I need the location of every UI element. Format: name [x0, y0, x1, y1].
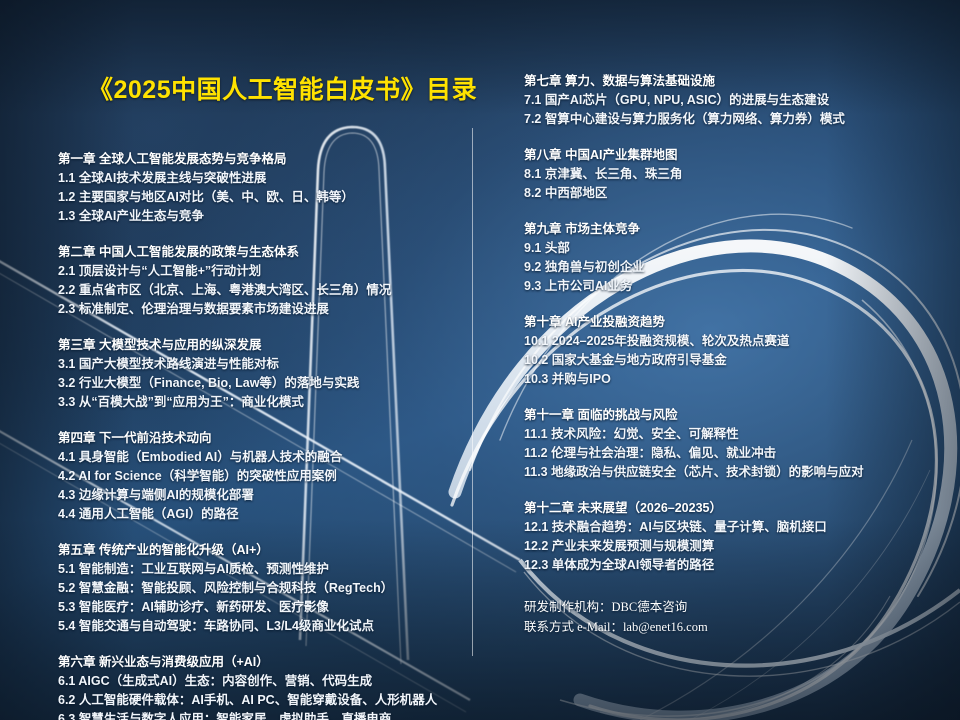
chapter-block: 第七章 算力、数据与算法基础设施 7.1 国产AI芯片（GPU, NPU, AS… — [524, 72, 944, 129]
section-item: 10.1 2024–2025年投融资规模、轮次及热点赛道 — [524, 332, 944, 351]
chapter-title: 第九章 市场主体竞争 — [524, 220, 944, 239]
section-item: 4.1 具身智能（Embodied AI）与机器人技术的融合 — [58, 448, 468, 467]
chapter-title: 第五章 传统产业的智能化升级（AI+） — [58, 541, 468, 560]
section-item: 11.2 伦理与社会治理：隐私、偏见、就业冲击 — [524, 444, 944, 463]
section-item: 11.1 技术风险：幻觉、安全、可解释性 — [524, 425, 944, 444]
section-item: 8.1 京津冀、长三角、珠三角 — [524, 165, 944, 184]
section-item: 5.4 智能交通与自动驾驶：车路协同、L3/L4级商业化试点 — [58, 617, 468, 636]
section-item: 2.1 顶层设计与“人工智能+”行动计划 — [58, 262, 468, 281]
section-item: 6.3 智慧生活与数字人应用：智能家居、虚拟助手、直播电商 — [58, 710, 468, 720]
chapter-block: 第九章 市场主体竞争 9.1 头部 9.2 独角兽与初创企业 9.3 上市公司A… — [524, 220, 944, 296]
chapter-title: 第七章 算力、数据与算法基础设施 — [524, 72, 944, 91]
contact-email: 联系方式 e-Mail：lab@enet16.com — [524, 617, 944, 637]
chapter-block: 第八章 中国AI产业集群地图 8.1 京津冀、长三角、珠三角 8.2 中西部地区 — [524, 146, 944, 203]
section-item: 5.2 智慧金融：智能投顾、风险控制与合规科技（RegTech） — [58, 579, 468, 598]
section-item: 1.2 主要国家与地区AI对比（美、中、欧、日、韩等） — [58, 188, 468, 207]
chapter-title: 第十章 AI产业投融资趋势 — [524, 313, 944, 332]
chapter-block: 第三章 大模型技术与应用的纵深发展 3.1 国产大模型技术路线演进与性能对标 3… — [58, 336, 468, 412]
toc-right-column: 第七章 算力、数据与算法基础设施 7.1 国产AI芯片（GPU, NPU, AS… — [524, 72, 944, 637]
section-item: 8.2 中西部地区 — [524, 184, 944, 203]
section-item: 3.3 从“百模大战”到“应用为王”：商业化模式 — [58, 393, 468, 412]
section-item: 6.1 AIGC（生成式AI）生态：内容创作、营销、代码生成 — [58, 672, 468, 691]
section-item: 12.2 产业未来发展预测与规模测算 — [524, 537, 944, 556]
chapter-block: 第十一章 面临的挑战与风险 11.1 技术风险：幻觉、安全、可解释性 11.2 … — [524, 406, 944, 482]
producer-footer: 研发制作机构：DBC德本咨询 联系方式 e-Mail：lab@enet16.co… — [524, 597, 944, 637]
section-item: 4.4 通用人工智能（AGI）的路径 — [58, 505, 468, 524]
section-item: 3.1 国产大模型技术路线演进与性能对标 — [58, 355, 468, 374]
section-item: 5.1 智能制造：工业互联网与AI质检、预测性维护 — [58, 560, 468, 579]
section-item: 5.3 智能医疗：AI辅助诊疗、新药研发、医疗影像 — [58, 598, 468, 617]
section-item: 4.2 AI for Science（科学智能）的突破性应用案例 — [58, 467, 468, 486]
section-item: 10.2 国家大基金与地方政府引导基金 — [524, 351, 944, 370]
chapter-block: 第五章 传统产业的智能化升级（AI+） 5.1 智能制造：工业互联网与AI质检、… — [58, 541, 468, 636]
toc-left-column: 第一章 全球人工智能发展态势与竞争格局 1.1 全球AI技术发展主线与突破性进展… — [58, 150, 468, 720]
chapter-title: 第四章 下一代前沿技术动向 — [58, 429, 468, 448]
chapter-block: 第十章 AI产业投融资趋势 10.1 2024–2025年投融资规模、轮次及热点… — [524, 313, 944, 389]
chapter-title: 第十二章 未来展望（2026–20235） — [524, 499, 944, 518]
section-item: 10.3 并购与IPO — [524, 370, 944, 389]
chapter-title: 第三章 大模型技术与应用的纵深发展 — [58, 336, 468, 355]
chapter-block: 第六章 新兴业态与消费级应用（+AI） 6.1 AIGC（生成式AI）生态：内容… — [58, 653, 468, 720]
chapter-block: 第一章 全球人工智能发展态势与竞争格局 1.1 全球AI技术发展主线与突破性进展… — [58, 150, 468, 226]
section-item: 2.3 标准制定、伦理治理与数据要素市场建设进展 — [58, 300, 468, 319]
producer-org: 研发制作机构：DBC德本咨询 — [524, 597, 944, 617]
section-item: 1.1 全球AI技术发展主线与突破性进展 — [58, 169, 468, 188]
section-item: 7.1 国产AI芯片（GPU, NPU, ASIC）的进展与生态建设 — [524, 91, 944, 110]
section-item: 2.2 重点省市区（北京、上海、粤港澳大湾区、长三角）情况 — [58, 281, 468, 300]
section-item: 9.2 独角兽与初创企业 — [524, 258, 944, 277]
section-item: 12.3 单体成为全球AI领导者的路径 — [524, 556, 944, 575]
section-item: 4.3 边缘计算与端侧AI的规模化部署 — [58, 486, 468, 505]
section-item: 9.1 头部 — [524, 239, 944, 258]
column-divider — [472, 128, 473, 656]
chapter-title: 第十一章 面临的挑战与风险 — [524, 406, 944, 425]
section-item: 9.3 上市公司AI业务 — [524, 277, 944, 296]
page-title: 《2025中国人工智能白皮书》目录 — [88, 70, 477, 106]
section-item: 3.2 行业大模型（Finance, Bio, Law等）的落地与实践 — [58, 374, 468, 393]
section-item: 11.3 地缘政治与供应链安全（芯片、技术封锁）的影响与应对 — [524, 463, 944, 482]
chapter-block: 第二章 中国人工智能发展的政策与生态体系 2.1 顶层设计与“人工智能+”行动计… — [58, 243, 468, 319]
slide-canvas: 《2025中国人工智能白皮书》目录 第一章 全球人工智能发展态势与竞争格局 1.… — [0, 0, 960, 720]
chapter-block: 第十二章 未来展望（2026–20235） 12.1 技术融合趋势：AI与区块链… — [524, 499, 944, 575]
section-item: 1.3 全球AI产业生态与竞争 — [58, 207, 468, 226]
chapter-title: 第一章 全球人工智能发展态势与竞争格局 — [58, 150, 468, 169]
section-item: 6.2 人工智能硬件载体：AI手机、AI PC、智能穿戴设备、人形机器人 — [58, 691, 468, 710]
section-item: 12.1 技术融合趋势：AI与区块链、量子计算、脑机接口 — [524, 518, 944, 537]
chapter-title: 第八章 中国AI产业集群地图 — [524, 146, 944, 165]
chapter-block: 第四章 下一代前沿技术动向 4.1 具身智能（Embodied AI）与机器人技… — [58, 429, 468, 524]
chapter-title: 第二章 中国人工智能发展的政策与生态体系 — [58, 243, 468, 262]
chapter-title: 第六章 新兴业态与消费级应用（+AI） — [58, 653, 468, 672]
section-item: 7.2 智算中心建设与算力服务化（算力网络、算力券）模式 — [524, 110, 944, 129]
